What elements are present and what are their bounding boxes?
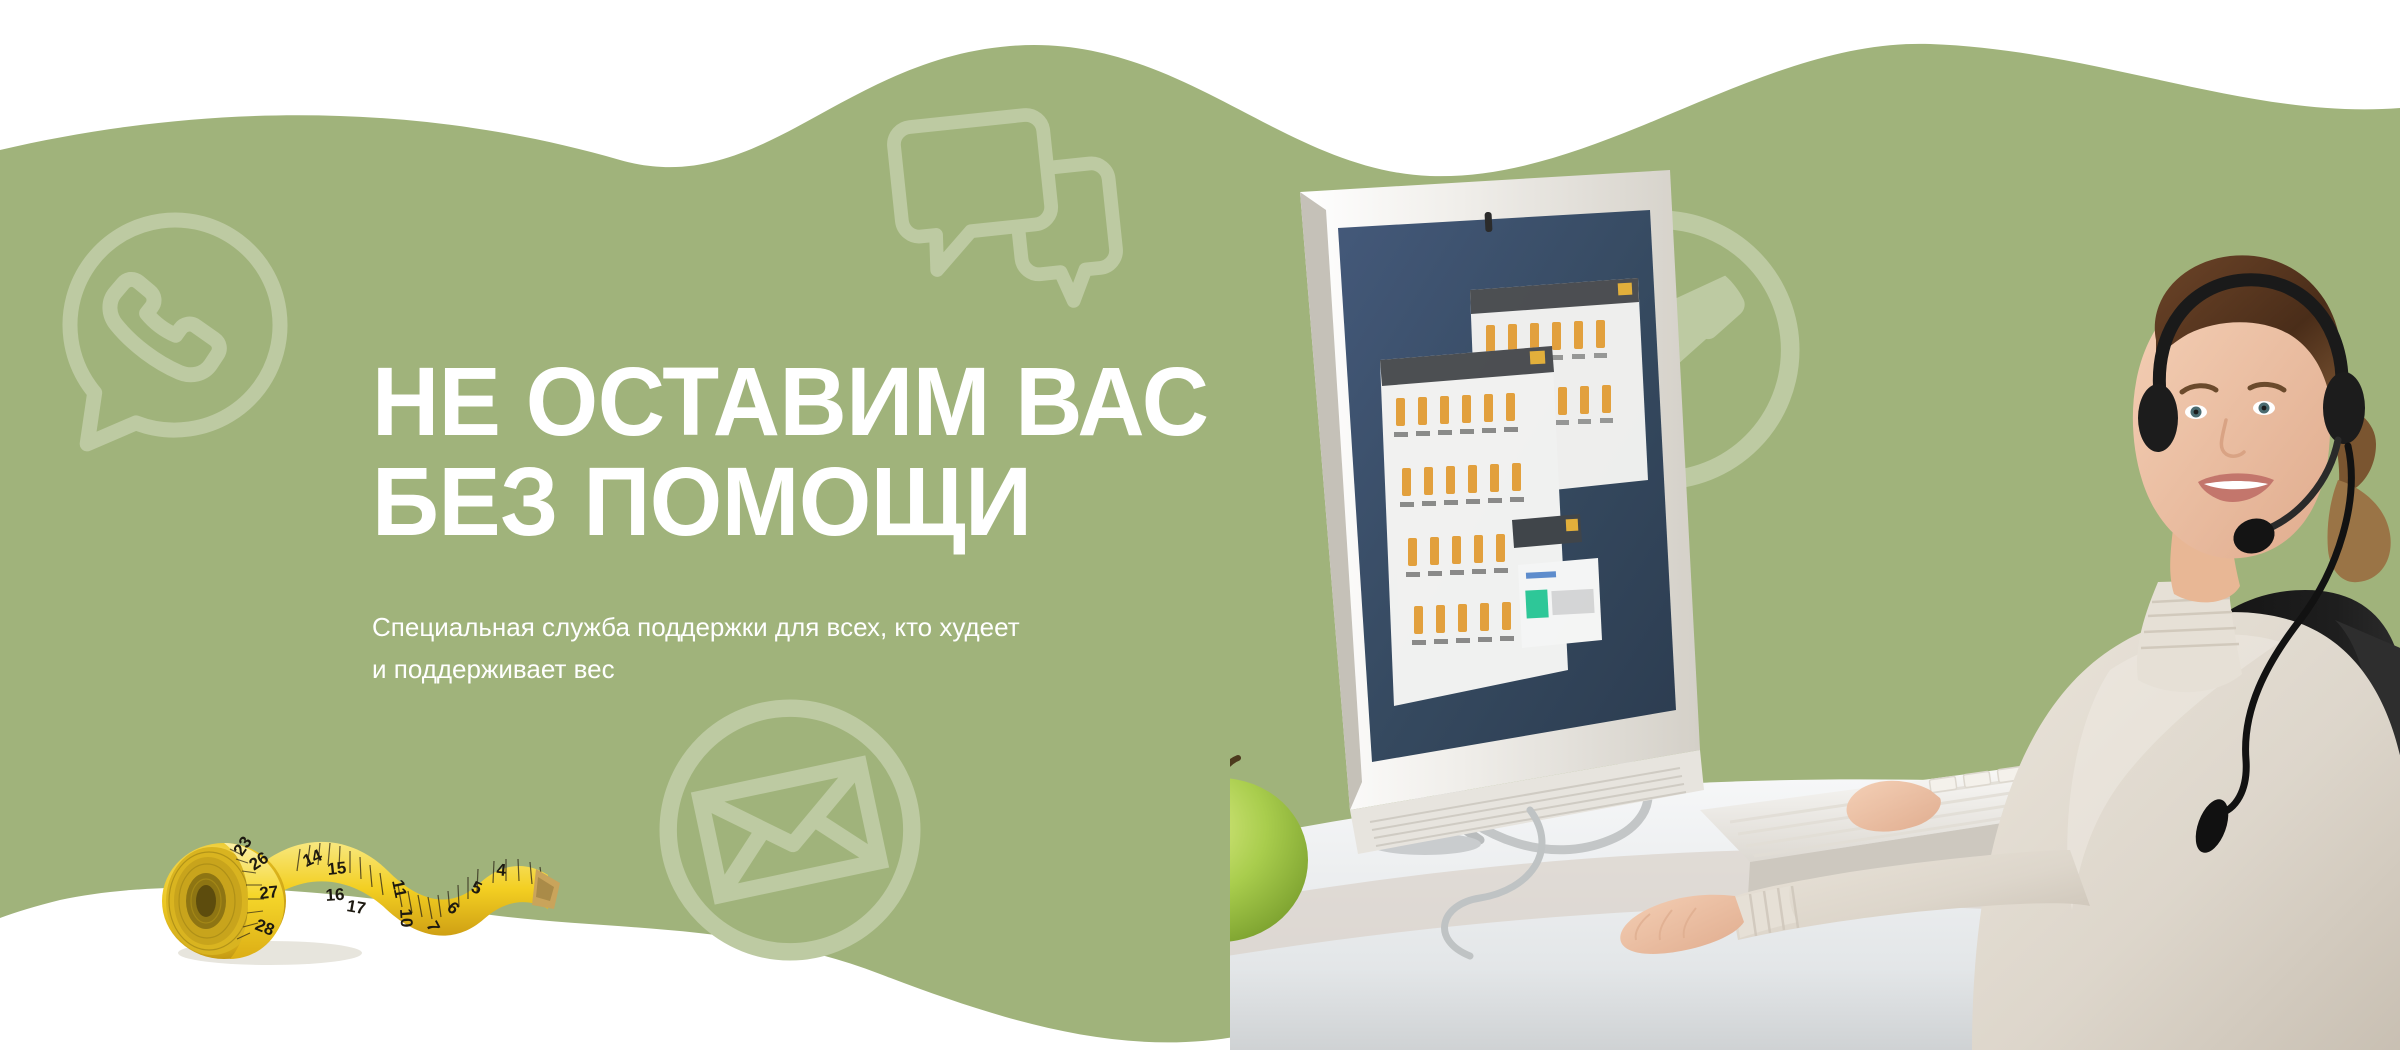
page-title: НЕ ОСТАВИМ ВАС БЕЗ ПОМОЩИ: [372, 352, 1284, 552]
svg-text:16: 16: [325, 885, 345, 905]
svg-text:27: 27: [258, 882, 279, 903]
svg-text:17: 17: [345, 896, 367, 918]
whatsapp-icon: [34, 184, 316, 466]
svg-text:10: 10: [396, 908, 416, 928]
svg-text:15: 15: [326, 858, 347, 879]
envelope-circle-icon: [645, 685, 935, 975]
support-agent: [1620, 255, 2400, 1050]
support-agent-photo: [1230, 150, 2400, 1050]
page-subtitle: Специальная служба поддержки для всех, к…: [372, 606, 1132, 690]
support-banner: НЕ ОСТАВИМ ВАС БЕЗ ПОМОЩИ Специальная сл…: [0, 0, 2400, 1050]
measuring-tape: 14 15 16 17 11 10 6 7 5 4: [150, 805, 560, 985]
tape-roll: 23 26 27 28: [162, 833, 286, 959]
chat-bubbles-icon: [880, 95, 1180, 345]
hero-copy: НЕ ОСТАВИМ ВАС БЕЗ ПОМОЩИ Специальная сл…: [372, 352, 1322, 690]
monitor: [1300, 170, 1704, 854]
